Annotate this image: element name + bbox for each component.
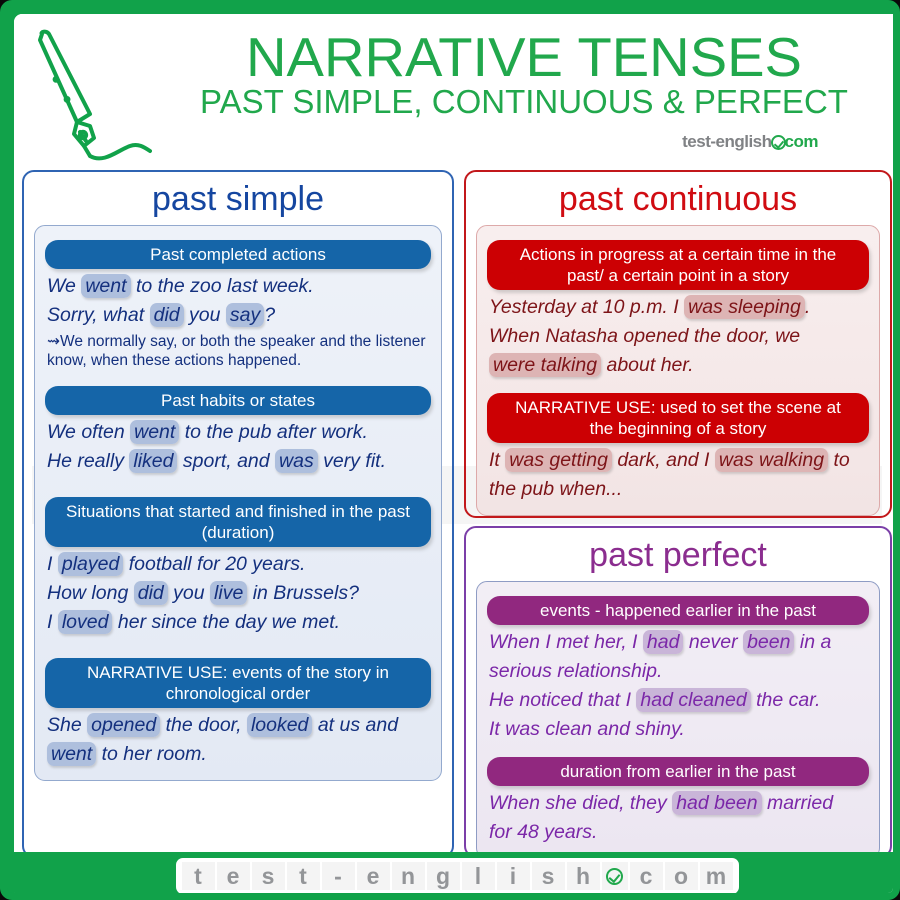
- page-title: NARRATIVE TENSES: [147, 28, 900, 86]
- example-text: We: [47, 275, 81, 297]
- example-text: It: [489, 449, 505, 471]
- columns: past simple Past completed actions We we…: [14, 162, 900, 852]
- example-line: were talking about her.: [489, 352, 869, 378]
- example-line: the pub when...: [489, 476, 869, 502]
- highlight-verb: played: [58, 552, 123, 576]
- example-line: When Natasha opened the door, we: [489, 323, 869, 349]
- example-text: the door,: [160, 714, 247, 736]
- footer-letter: t: [182, 862, 215, 890]
- example-line: serious relationship.: [489, 658, 869, 684]
- highlight-verb: had been: [672, 791, 761, 815]
- band-narrative-use-chronological: NARRATIVE USE: events of the story in ch…: [45, 658, 431, 708]
- example-text: ?: [264, 304, 275, 326]
- highlight-verb: looked: [247, 713, 312, 737]
- example-text: to: [828, 449, 850, 471]
- example-text: you: [184, 304, 226, 326]
- infographic-frame: NARRATIVE TENSES PAST SIMPLE, CONTINUOUS…: [0, 0, 900, 900]
- highlight-verb: been: [743, 630, 794, 654]
- example-text: He really: [47, 450, 129, 472]
- example-text: I: [47, 553, 58, 575]
- footer-letter: l: [462, 862, 495, 890]
- example-line: We often went to the pub after work.: [47, 419, 431, 445]
- example-text: Sorry, what: [47, 304, 150, 326]
- card-past-simple: past simple Past completed actions We we…: [22, 170, 454, 858]
- header-logo-name: test-english: [682, 132, 771, 151]
- footer-letter: m: [700, 862, 733, 890]
- band-events-earlier-in-past: events - happened earlier in the past: [487, 596, 869, 625]
- footer-letter: h: [567, 862, 600, 890]
- footer-letter: g: [427, 862, 460, 890]
- highlight-verb: say: [226, 303, 264, 327]
- band-past-completed-actions: Past completed actions: [45, 240, 431, 269]
- example-line: I loved her since the day we met.: [47, 609, 431, 635]
- highlight-verb: was walking: [715, 448, 828, 472]
- footer-logo: t e s t - e n g l i s h c o m: [176, 858, 739, 894]
- header-logo-tld: com: [785, 132, 818, 151]
- highlight-verb: went: [130, 420, 179, 444]
- example-text: very fit.: [318, 450, 386, 472]
- highlight-verb: liked: [129, 449, 177, 473]
- example-text: Yesterday at 10 p.m. I: [489, 296, 684, 318]
- highlight-verb: was: [275, 449, 318, 473]
- example-text: football for 20 years.: [123, 553, 305, 575]
- footer: t e s t - e n g l i s h c o m: [14, 852, 900, 900]
- example-line: went to her room.: [47, 741, 431, 767]
- example-line: When I met her, I had never been in a: [489, 629, 869, 655]
- example-line: I played football for 20 years.: [47, 551, 431, 577]
- band-narrative-use-set-the-scene: NARRATIVE USE: used to set the scene at …: [487, 393, 869, 443]
- footer-letter: o: [665, 862, 698, 890]
- highlight-verb: went: [81, 274, 130, 298]
- highlight-verb: was sleeping: [684, 295, 805, 319]
- band-duration-from-earlier: duration from earlier in the past: [487, 757, 869, 786]
- example-text: .: [805, 296, 810, 318]
- highlight-verb: did: [134, 581, 168, 605]
- header: NARRATIVE TENSES PAST SIMPLE, CONTINUOUS…: [14, 14, 900, 162]
- fountain-pen-icon: [22, 22, 152, 162]
- footer-letter: -: [322, 862, 355, 890]
- example-text: married: [762, 792, 834, 814]
- highlight-verb: opened: [87, 713, 160, 737]
- highlight-verb: did: [150, 303, 184, 327]
- usage-note: ⇝We normally say, or both the speaker an…: [47, 332, 431, 370]
- example-text: I: [47, 611, 58, 633]
- example-text: How long: [47, 582, 134, 604]
- footer-letter: e: [357, 862, 390, 890]
- footer-letter: s: [532, 862, 565, 890]
- example-text: in Brussels?: [247, 582, 359, 604]
- highlight-verb: had cleaned: [636, 688, 750, 712]
- footer-letter: i: [497, 862, 530, 890]
- example-line: Yesterday at 10 p.m. I was sleeping.: [489, 294, 869, 320]
- example-line: How long did you live in Brussels?: [47, 580, 431, 606]
- footer-check-circle-icon: [602, 862, 628, 890]
- example-line: He really liked sport, and was very fit.: [47, 448, 431, 474]
- panel-past-perfect: events - happened earlier in the past Wh…: [476, 581, 880, 859]
- card-title-past-continuous: past continuous: [466, 172, 890, 219]
- example-text: He noticed that I: [489, 689, 636, 711]
- example-text: When she died, they: [489, 792, 672, 814]
- example-text: to the pub after work.: [179, 421, 368, 443]
- example-text: the car.: [751, 689, 821, 711]
- footer-letter: n: [392, 862, 425, 890]
- band-actions-in-progress: Actions in progress at a certain time in…: [487, 240, 869, 290]
- band-situations-duration: Situations that started and finished in …: [45, 497, 431, 547]
- card-title-past-simple: past simple: [24, 172, 452, 219]
- footer-letter: c: [630, 862, 663, 890]
- example-text: sport, and: [177, 450, 275, 472]
- highlight-verb: were talking: [489, 353, 601, 377]
- example-text: in a: [794, 631, 831, 653]
- footer-letter: t: [287, 862, 320, 890]
- example-text: to the zoo last week.: [131, 275, 314, 297]
- example-line: It was getting dark, and I was walking t…: [489, 447, 869, 473]
- example-text: at us and: [312, 714, 398, 736]
- band-past-habits-or-states: Past habits or states: [45, 386, 431, 415]
- page-subtitle: PAST SIMPLE, CONTINUOUS & PERFECT: [154, 84, 894, 120]
- card-past-continuous: past continuous Actions in progress at a…: [464, 170, 892, 518]
- example-line: Sorry, what did you say?: [47, 302, 431, 328]
- example-text: her since the day we met.: [112, 611, 340, 633]
- panel-past-simple: Past completed actions We went to the zo…: [34, 225, 442, 781]
- infographic-canvas: NARRATIVE TENSES PAST SIMPLE, CONTINUOUS…: [14, 14, 900, 900]
- example-text: to her room.: [96, 743, 207, 765]
- highlight-verb: was getting: [505, 448, 612, 472]
- card-past-perfect: past perfect events - happened earlier i…: [464, 526, 892, 858]
- highlight-verb: had: [643, 630, 684, 654]
- example-text: We often: [47, 421, 130, 443]
- header-logo: test-englishcom: [682, 132, 818, 152]
- example-text: When Natasha opened the door, we: [489, 325, 800, 347]
- example-line: When she died, they had been married: [489, 790, 869, 816]
- example-text: about her.: [601, 354, 694, 376]
- footer-letter: e: [217, 862, 250, 890]
- footer-letter: s: [252, 862, 285, 890]
- highlight-verb: loved: [58, 610, 113, 634]
- panel-past-continuous: Actions in progress at a certain time in…: [476, 225, 880, 516]
- example-line: It was clean and shiny.: [489, 716, 869, 742]
- title-block: NARRATIVE TENSES PAST SIMPLE, CONTINUOUS…: [154, 28, 894, 120]
- card-title-past-perfect: past perfect: [466, 528, 890, 575]
- highlight-verb: went: [47, 742, 96, 766]
- example-text: dark, and I: [612, 449, 715, 471]
- check-circle-icon: [771, 135, 786, 150]
- example-line: We went to the zoo last week.: [47, 273, 431, 299]
- example-line: She opened the door, looked at us and: [47, 712, 431, 738]
- example-line: He noticed that I had cleaned the car.: [489, 687, 869, 713]
- example-text: She: [47, 714, 87, 736]
- example-text: When I met her, I: [489, 631, 643, 653]
- example-text: never: [683, 631, 743, 653]
- highlight-verb: live: [210, 581, 247, 605]
- example-text: you: [168, 582, 210, 604]
- example-line: for 48 years.: [489, 819, 869, 845]
